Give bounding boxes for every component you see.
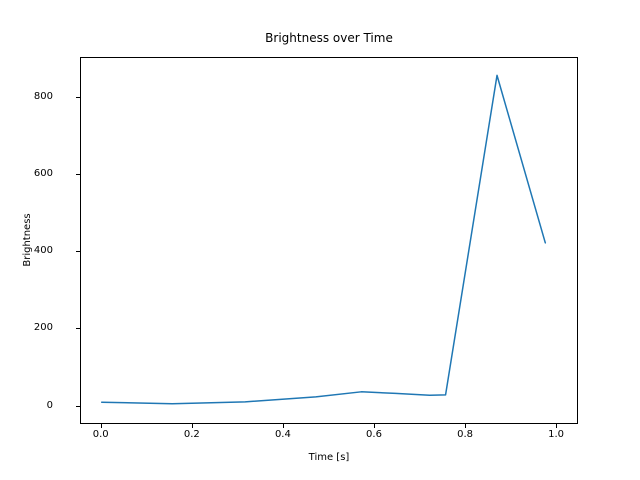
x-tick-mark xyxy=(101,424,102,428)
x-tick-label: 1.0 xyxy=(536,429,576,440)
x-tick-mark xyxy=(465,424,466,428)
x-tick-label: 0.8 xyxy=(445,429,485,440)
y-tick-mark xyxy=(76,174,80,175)
x-tick-mark xyxy=(192,424,193,428)
y-tick-mark xyxy=(76,328,80,329)
x-tick-mark xyxy=(374,424,375,428)
plot-area xyxy=(80,57,578,424)
line-series-svg xyxy=(81,58,579,425)
x-tick-label: 0.0 xyxy=(81,429,121,440)
y-tick-label: 400 xyxy=(34,245,53,256)
y-tick-label: 600 xyxy=(34,168,53,179)
y-tick-label: 200 xyxy=(34,322,53,333)
x-axis-label: Time [s] xyxy=(80,452,578,464)
matplotlib-figure: Brightness over Time Brightness 02004006… xyxy=(0,0,640,480)
x-tick-label: 0.4 xyxy=(263,429,303,440)
chart-title: Brightness over Time xyxy=(80,31,578,45)
series-line-brightness xyxy=(102,75,546,403)
x-tick-mark xyxy=(556,424,557,428)
y-axis-label: Brightness xyxy=(22,170,34,310)
x-tick-mark xyxy=(283,424,284,428)
y-tick-mark xyxy=(76,406,80,407)
y-tick-mark xyxy=(76,251,80,252)
x-tick-label: 0.2 xyxy=(172,429,212,440)
y-tick-label: 0 xyxy=(47,400,53,411)
x-tick-label: 0.6 xyxy=(354,429,394,440)
y-tick-label: 800 xyxy=(34,91,53,102)
y-tick-mark xyxy=(76,97,80,98)
